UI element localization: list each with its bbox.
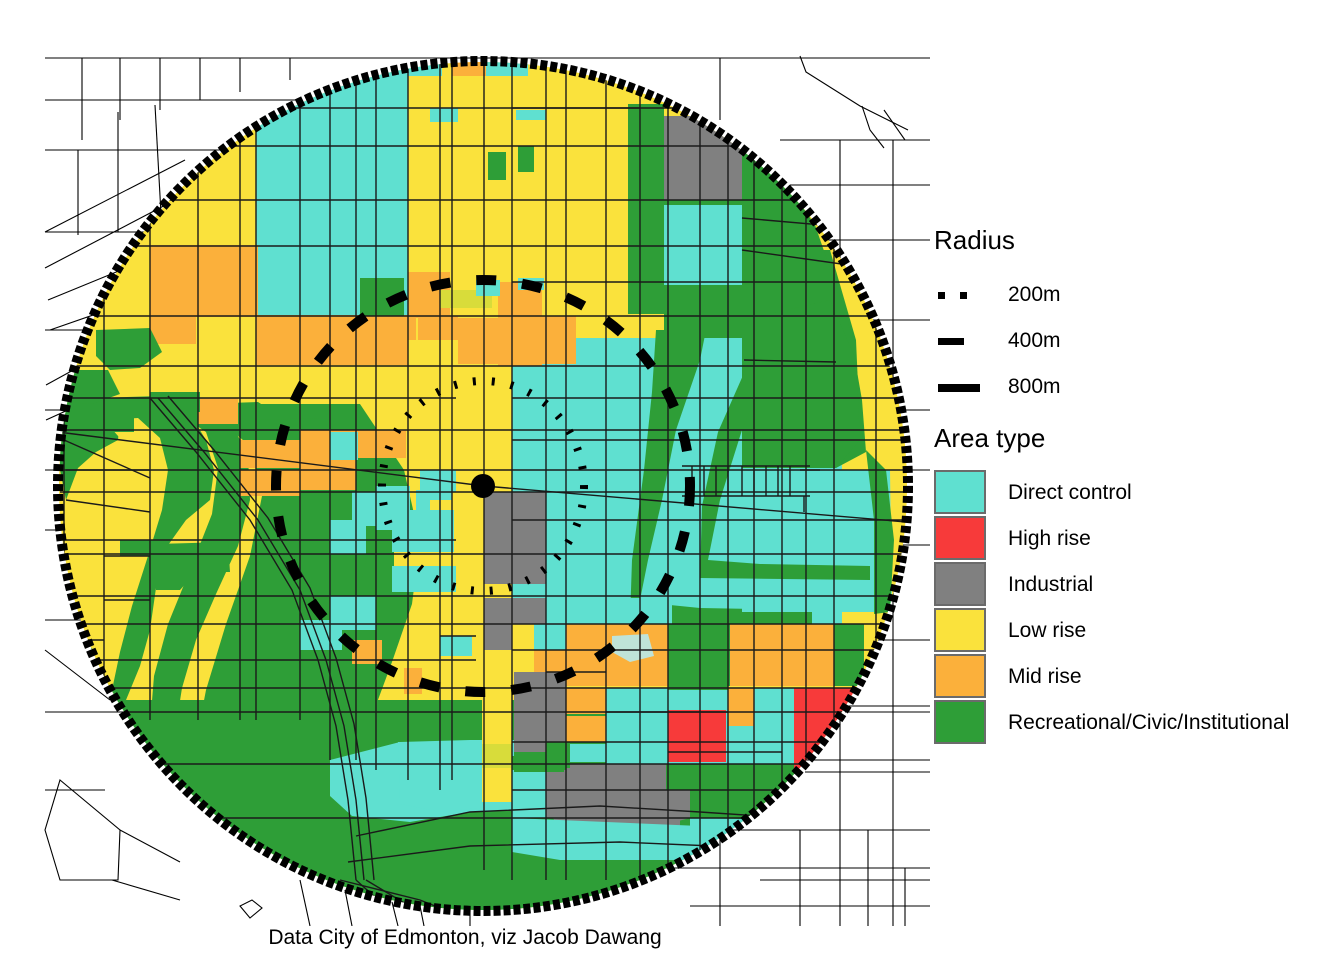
color-swatch-low-rise <box>934 608 992 654</box>
legend-item-industrial[interactable]: Industrial <box>934 562 1093 608</box>
color-swatch-direct-control <box>934 470 992 516</box>
legend-label-radius-400m: 400m <box>1008 329 1061 353</box>
color-swatch-high-rise <box>934 516 992 562</box>
legend-item-direct-control[interactable]: Direct control <box>934 470 1132 516</box>
map-figure: Zoning around 124 Street LRT station <box>0 0 1344 960</box>
legend-item-radius-800m[interactable]: 800m <box>934 364 1061 410</box>
color-swatch-recreational-civic-institutional <box>934 700 992 746</box>
color-swatch-industrial <box>934 562 992 608</box>
legend-label-low-rise: Low rise <box>1008 619 1086 643</box>
dashed-line-icon <box>934 318 992 364</box>
area-legend-title: Area type <box>934 423 1045 454</box>
legend-item-mid-rise[interactable]: Mid rise <box>934 654 1082 700</box>
legend-label-mid-rise: Mid rise <box>1008 665 1082 689</box>
color-swatch-mid-rise <box>934 654 992 700</box>
source-caption: Data City of Edmonton, viz Jacob Dawang <box>0 926 930 950</box>
dotted-line-icon <box>934 272 992 318</box>
map-canvas[interactable] <box>0 0 930 926</box>
legend-label-direct-control: Direct control <box>1008 481 1132 505</box>
legend-label-radius-200m: 200m <box>1008 283 1061 307</box>
legend-item-high-rise[interactable]: High rise <box>934 516 1091 562</box>
solid-line-icon <box>934 364 992 410</box>
legend-item-radius-400m[interactable]: 400m <box>934 318 1061 364</box>
legend-item-radius-200m[interactable]: 200m <box>934 272 1061 318</box>
station-center-marker[interactable] <box>471 474 495 498</box>
legend-label-high-rise: High rise <box>1008 527 1091 551</box>
radius-legend-title: Radius <box>934 225 1015 256</box>
legend-item-low-rise[interactable]: Low rise <box>934 608 1086 654</box>
legend-label-industrial: Industrial <box>1008 573 1093 597</box>
legend-label-radius-800m: 800m <box>1008 375 1061 399</box>
legend-label-recreational-civic-institutional: Recreational/Civic/Institutional <box>1008 711 1289 735</box>
legend-item-recreational-civic-institutional[interactable]: Recreational/Civic/Institutional <box>934 700 1289 746</box>
